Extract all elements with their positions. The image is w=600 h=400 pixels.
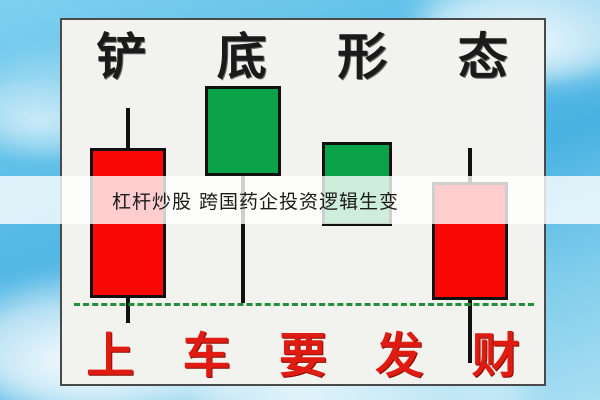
support-line [74,303,534,306]
screenshot-root: 铲 底 形 态 上 车 要 发 财 杠杆炒股 跨国药企投资逻辑生变 [0,0,600,400]
watermark-text: 杠杆炒股 跨国药企投资逻辑生变 [112,176,399,224]
candle-body-up [205,86,281,176]
